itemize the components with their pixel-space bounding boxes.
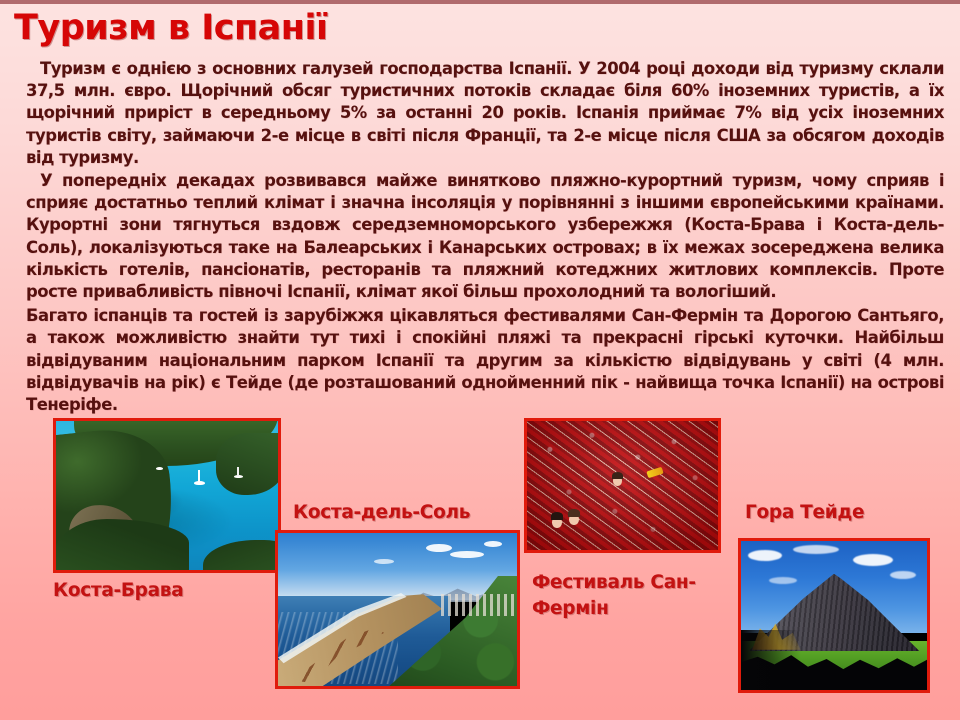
- sky-region: [278, 533, 517, 600]
- photo-teide: [738, 538, 930, 693]
- photo-costa-brava: [53, 418, 281, 573]
- costa-del-sol-artwork: [278, 533, 517, 686]
- paragraph-3: Багато іспанців та гостей із зарубіжжя ц…: [26, 305, 944, 416]
- caption-san-fermin: Фестиваль Сан- Фермін: [532, 570, 732, 622]
- caption-costa-del-sol: Коста-дель-Соль: [293, 500, 470, 526]
- slide-title: Туризм в Іспанії: [14, 8, 327, 48]
- presentation-slide: Туризм в Іспанії Туризм є однією з основ…: [0, 0, 960, 720]
- teide-artwork: [741, 541, 927, 690]
- person-figure: [552, 516, 562, 528]
- costa-brava-artwork: [56, 421, 278, 570]
- sailboat-icon: [194, 481, 205, 485]
- san-fermin-artwork: [527, 421, 718, 550]
- dark-foreground-left: [741, 630, 801, 690]
- crowd-shading-overlay: [527, 421, 718, 550]
- top-accent-band: [0, 0, 960, 4]
- cloud-shape: [374, 559, 394, 564]
- photo-san-fermin: [524, 418, 721, 553]
- paragraph-1: Туризм є однією з основних галузей госпо…: [26, 58, 944, 169]
- sailboat-icon: [234, 475, 243, 478]
- cloud-shape: [426, 544, 452, 552]
- slide-body-text: Туризм є однією з основних галузей госпо…: [26, 58, 944, 416]
- trees-right-region: [216, 433, 281, 496]
- paragraph-2: У попередніх декадах розвивався майже ви…: [26, 170, 944, 303]
- caption-teide: Гора Тейде: [745, 500, 864, 526]
- cloud-shape: [748, 550, 782, 561]
- cloud-shape: [484, 541, 502, 547]
- caption-costa-brava: Коста-Брава: [53, 578, 183, 604]
- cloud-shape: [890, 571, 916, 579]
- photo-costa-del-sol: [275, 530, 520, 689]
- foreground-vegetation: [53, 519, 189, 573]
- person-figure: [569, 513, 579, 525]
- coastal-town: [441, 594, 517, 615]
- person-figure: [613, 475, 622, 486]
- boat-icon: [156, 467, 163, 470]
- cloud-shape: [769, 577, 797, 584]
